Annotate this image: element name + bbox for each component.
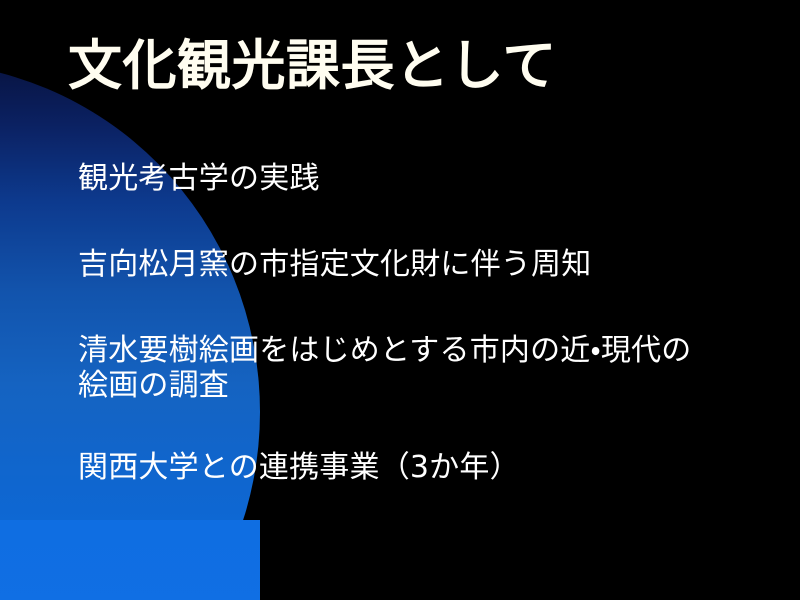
list-item: 関西大学との連携事業（3か年） <box>78 451 738 485</box>
slide-body-list: 観光考古学の実践 吉向松月窯の市指定文化財に伴う周知 清水要樹絵画をはじめとする… <box>78 162 738 485</box>
bullet-line: 観光考古学の実践 <box>78 162 738 196</box>
blue-ellipse-shape-extension <box>0 520 260 600</box>
bullet-line: 関西大学との連携事業（3か年） <box>78 451 738 485</box>
list-item: 吉向松月窯の市指定文化財に伴う周知 <box>78 248 738 282</box>
bullet-line: 吉向松月窯の市指定文化財に伴う周知 <box>78 248 738 282</box>
bullet-line: 絵画の調査 <box>78 369 738 403</box>
list-item: 観光考古学の実践 <box>78 162 738 196</box>
list-item: 清水要樹絵画をはじめとする市内の近・現代の 絵画の調査 <box>78 334 738 402</box>
presentation-slide: 文化観光課長として 観光考古学の実践 吉向松月窯の市指定文化財に伴う周知 清水要… <box>0 0 800 600</box>
bullet-line: 清水要樹絵画をはじめとする市内の近・現代の <box>78 334 738 368</box>
slide-title: 文化観光課長として <box>68 36 768 96</box>
